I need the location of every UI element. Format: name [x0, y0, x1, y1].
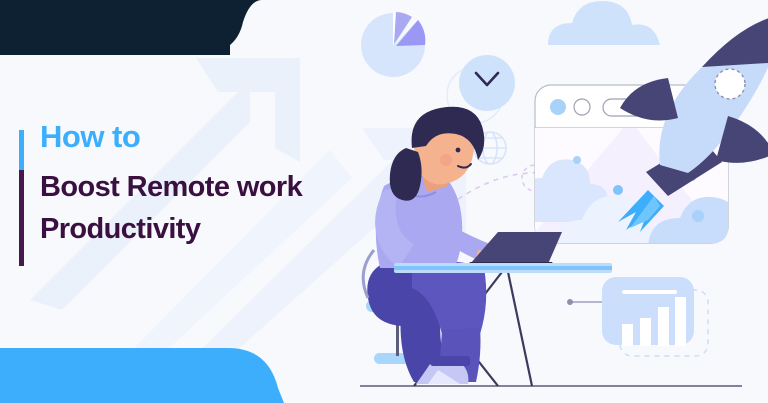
cloud-icon [548, 1, 660, 45]
accent-bar-top [19, 130, 24, 170]
bar-2 [640, 318, 651, 346]
person-at-laptop [363, 107, 504, 384]
browser-dot-outline [574, 99, 590, 115]
banner: How to Boost Remote work Productivity [0, 0, 768, 403]
card-connector-dot [567, 299, 573, 305]
bar-4 [675, 297, 686, 346]
bar-chart-card-icon [567, 277, 708, 356]
browser-dot-blue [550, 99, 566, 115]
bar-chart-title-line [622, 290, 677, 294]
bar-1 [622, 324, 633, 346]
illustration [330, 0, 768, 403]
headline-accent-bar [19, 130, 24, 266]
pie-chart-icon [361, 12, 425, 77]
accent-bar-bottom [19, 170, 24, 266]
bar-3 [658, 307, 669, 346]
desk [394, 263, 612, 273]
